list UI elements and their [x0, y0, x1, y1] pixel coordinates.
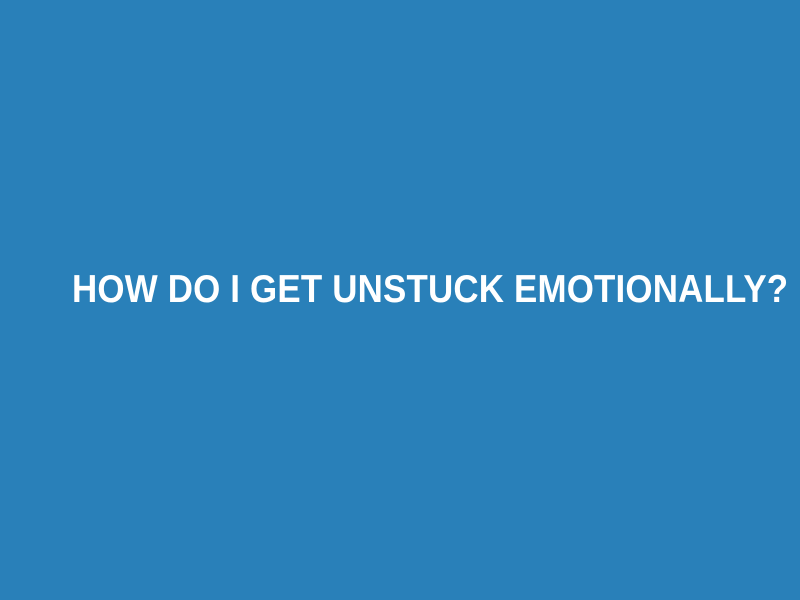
- hero-banner: How do I get unstuck emotionally?: [0, 0, 800, 600]
- page-title: How do I get unstuck emotionally?: [72, 268, 788, 312]
- hero-title-container: How do I get unstuck emotionally?: [0, 0, 800, 600]
